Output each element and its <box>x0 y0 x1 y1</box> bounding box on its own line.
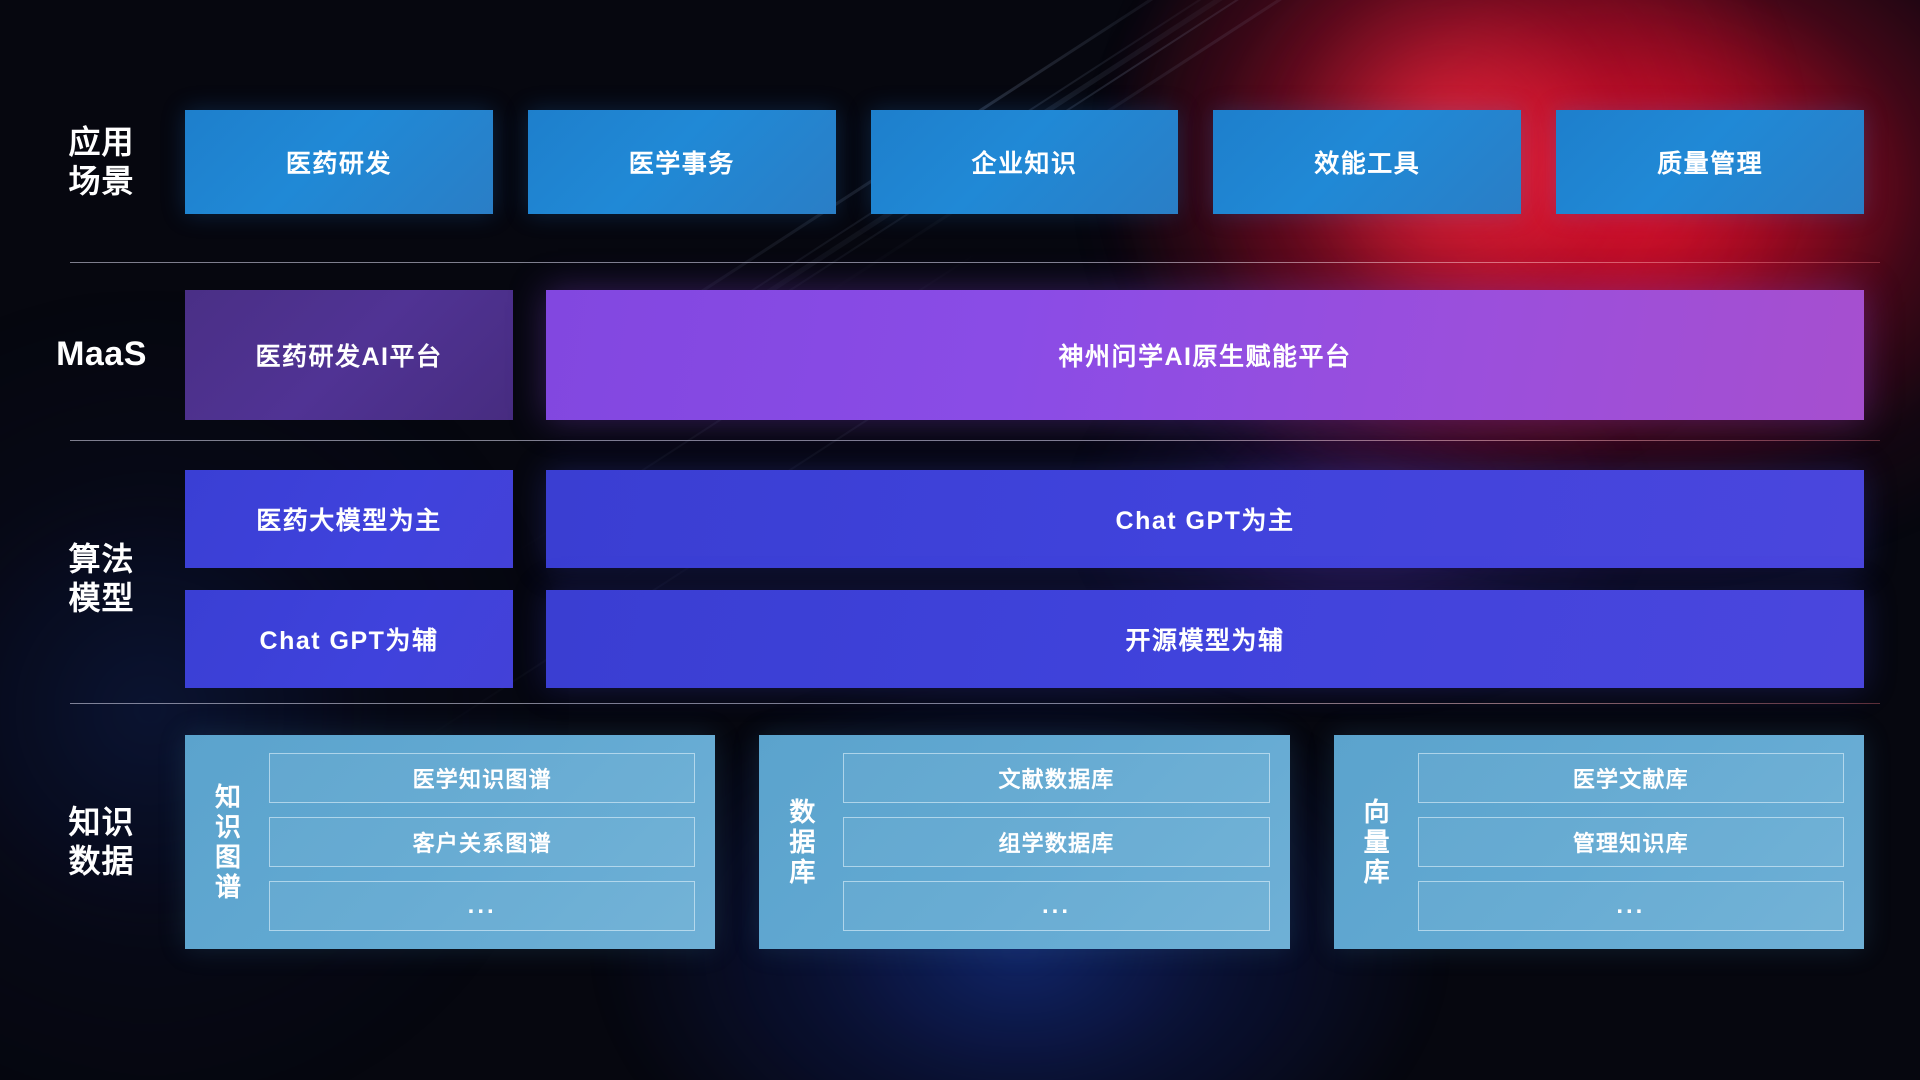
maas-content: 医药研发AI平台 神州问学AI原生赋能平台 <box>185 290 1920 420</box>
tier-label-maas: MaaS <box>0 334 185 375</box>
knowledge-item-medical-literature-store[interactable]: 医学文献库 <box>1418 753 1844 803</box>
tier-label-line-1: 算法 <box>18 540 185 579</box>
maas-card-pharma-ai-platform[interactable]: 医药研发AI平台 <box>185 290 513 420</box>
knowledge-item-management-knowledge-store[interactable]: 管理知识库 <box>1418 817 1844 867</box>
knowledge-item-more[interactable]: ... <box>1418 881 1844 931</box>
algorithm-row-secondary: Chat GPT为辅 开源模型为辅 <box>185 590 1864 688</box>
diagram-canvas: 应用 场景 医药研发 医学事务 企业知识 效能工具 质量管理 MaaS 医药研 <box>0 0 1920 1080</box>
application-card-list: 医药研发 医学事务 企业知识 效能工具 质量管理 <box>185 110 1920 214</box>
knowledge-panel-side-label: 向量库 <box>1352 753 1402 931</box>
knowledge-panel-side-label: 知识图谱 <box>203 753 253 931</box>
tier-rows: 应用 场景 医药研发 医学事务 企业知识 效能工具 质量管理 MaaS 医药研 <box>0 0 1920 1080</box>
knowledge-item-literature-database[interactable]: 文献数据库 <box>843 753 1269 803</box>
tier-application-scenarios: 应用 场景 医药研发 医学事务 企业知识 效能工具 质量管理 <box>0 110 1920 214</box>
knowledge-item-customer-relation-graph[interactable]: 客户关系图谱 <box>269 817 695 867</box>
app-card-quality-management[interactable]: 质量管理 <box>1556 110 1864 214</box>
tier-label-application-scenarios: 应用 场景 <box>0 123 185 201</box>
knowledge-panel-list: 知识图谱 医学知识图谱 客户关系图谱 ... 数据库 文献数据库 组学数据库 .… <box>185 735 1920 949</box>
algo-card-pharma-large-model-primary[interactable]: 医药大模型为主 <box>185 470 513 568</box>
knowledge-item-list: 医学知识图谱 客户关系图谱 ... <box>269 753 695 931</box>
algorithm-row-primary: 医药大模型为主 Chat GPT为主 <box>185 470 1864 568</box>
tier-label-line-2: 数据 <box>18 842 185 881</box>
tier-label-line-2: 场景 <box>18 162 185 201</box>
knowledge-data-content: 知识图谱 医学知识图谱 客户关系图谱 ... 数据库 文献数据库 组学数据库 .… <box>185 735 1920 949</box>
tier-label-line-1: 知识 <box>18 803 185 842</box>
tier-label-line-2: 模型 <box>18 579 185 618</box>
app-card-medical-affairs[interactable]: 医学事务 <box>528 110 836 214</box>
knowledge-panel-vector-store: 向量库 医学文献库 管理知识库 ... <box>1334 735 1864 949</box>
application-scenarios-content: 医药研发 医学事务 企业知识 效能工具 质量管理 <box>185 110 1920 214</box>
tier-label-algorithm-models: 算法 模型 <box>0 540 185 618</box>
algo-card-chatgpt-primary[interactable]: Chat GPT为主 <box>546 470 1864 568</box>
maas-card-shenzhou-wenxue-platform[interactable]: 神州问学AI原生赋能平台 <box>546 290 1864 420</box>
algo-card-opensource-secondary[interactable]: 开源模型为辅 <box>546 590 1864 688</box>
knowledge-panel-side-label: 数据库 <box>777 753 827 931</box>
divider-1 <box>70 262 1880 263</box>
tier-maas: MaaS 医药研发AI平台 神州问学AI原生赋能平台 <box>0 290 1920 420</box>
tier-label-line-1: MaaS <box>18 334 185 375</box>
algorithm-card-grid: 医药大模型为主 Chat GPT为主 Chat GPT为辅 开源模型为辅 <box>185 470 1920 688</box>
app-card-medicine-rd[interactable]: 医药研发 <box>185 110 493 214</box>
tier-knowledge-data: 知识 数据 知识图谱 医学知识图谱 客户关系图谱 ... 数据库 <box>0 735 1920 949</box>
algo-card-chatgpt-secondary[interactable]: Chat GPT为辅 <box>185 590 513 688</box>
tier-label-line-1: 应用 <box>18 123 185 162</box>
knowledge-panel-database: 数据库 文献数据库 组学数据库 ... <box>759 735 1289 949</box>
app-card-enterprise-knowledge[interactable]: 企业知识 <box>871 110 1179 214</box>
divider-2 <box>70 440 1880 441</box>
maas-card-list: 医药研发AI平台 神州问学AI原生赋能平台 <box>185 290 1920 420</box>
knowledge-item-list: 文献数据库 组学数据库 ... <box>843 753 1269 931</box>
app-card-efficiency-tools[interactable]: 效能工具 <box>1213 110 1521 214</box>
tier-label-knowledge-data: 知识 数据 <box>0 803 185 881</box>
algorithm-models-content: 医药大模型为主 Chat GPT为主 Chat GPT为辅 开源模型为辅 <box>185 470 1920 688</box>
knowledge-panel-knowledge-graph: 知识图谱 医学知识图谱 客户关系图谱 ... <box>185 735 715 949</box>
knowledge-item-omics-database[interactable]: 组学数据库 <box>843 817 1269 867</box>
knowledge-item-list: 医学文献库 管理知识库 ... <box>1418 753 1844 931</box>
divider-3 <box>70 703 1880 704</box>
knowledge-item-medical-knowledge-graph[interactable]: 医学知识图谱 <box>269 753 695 803</box>
knowledge-item-more[interactable]: ... <box>269 881 695 931</box>
knowledge-item-more[interactable]: ... <box>843 881 1269 931</box>
tier-algorithm-models: 算法 模型 医药大模型为主 Chat GPT为主 Chat GPT为辅 开源模型… <box>0 470 1920 688</box>
